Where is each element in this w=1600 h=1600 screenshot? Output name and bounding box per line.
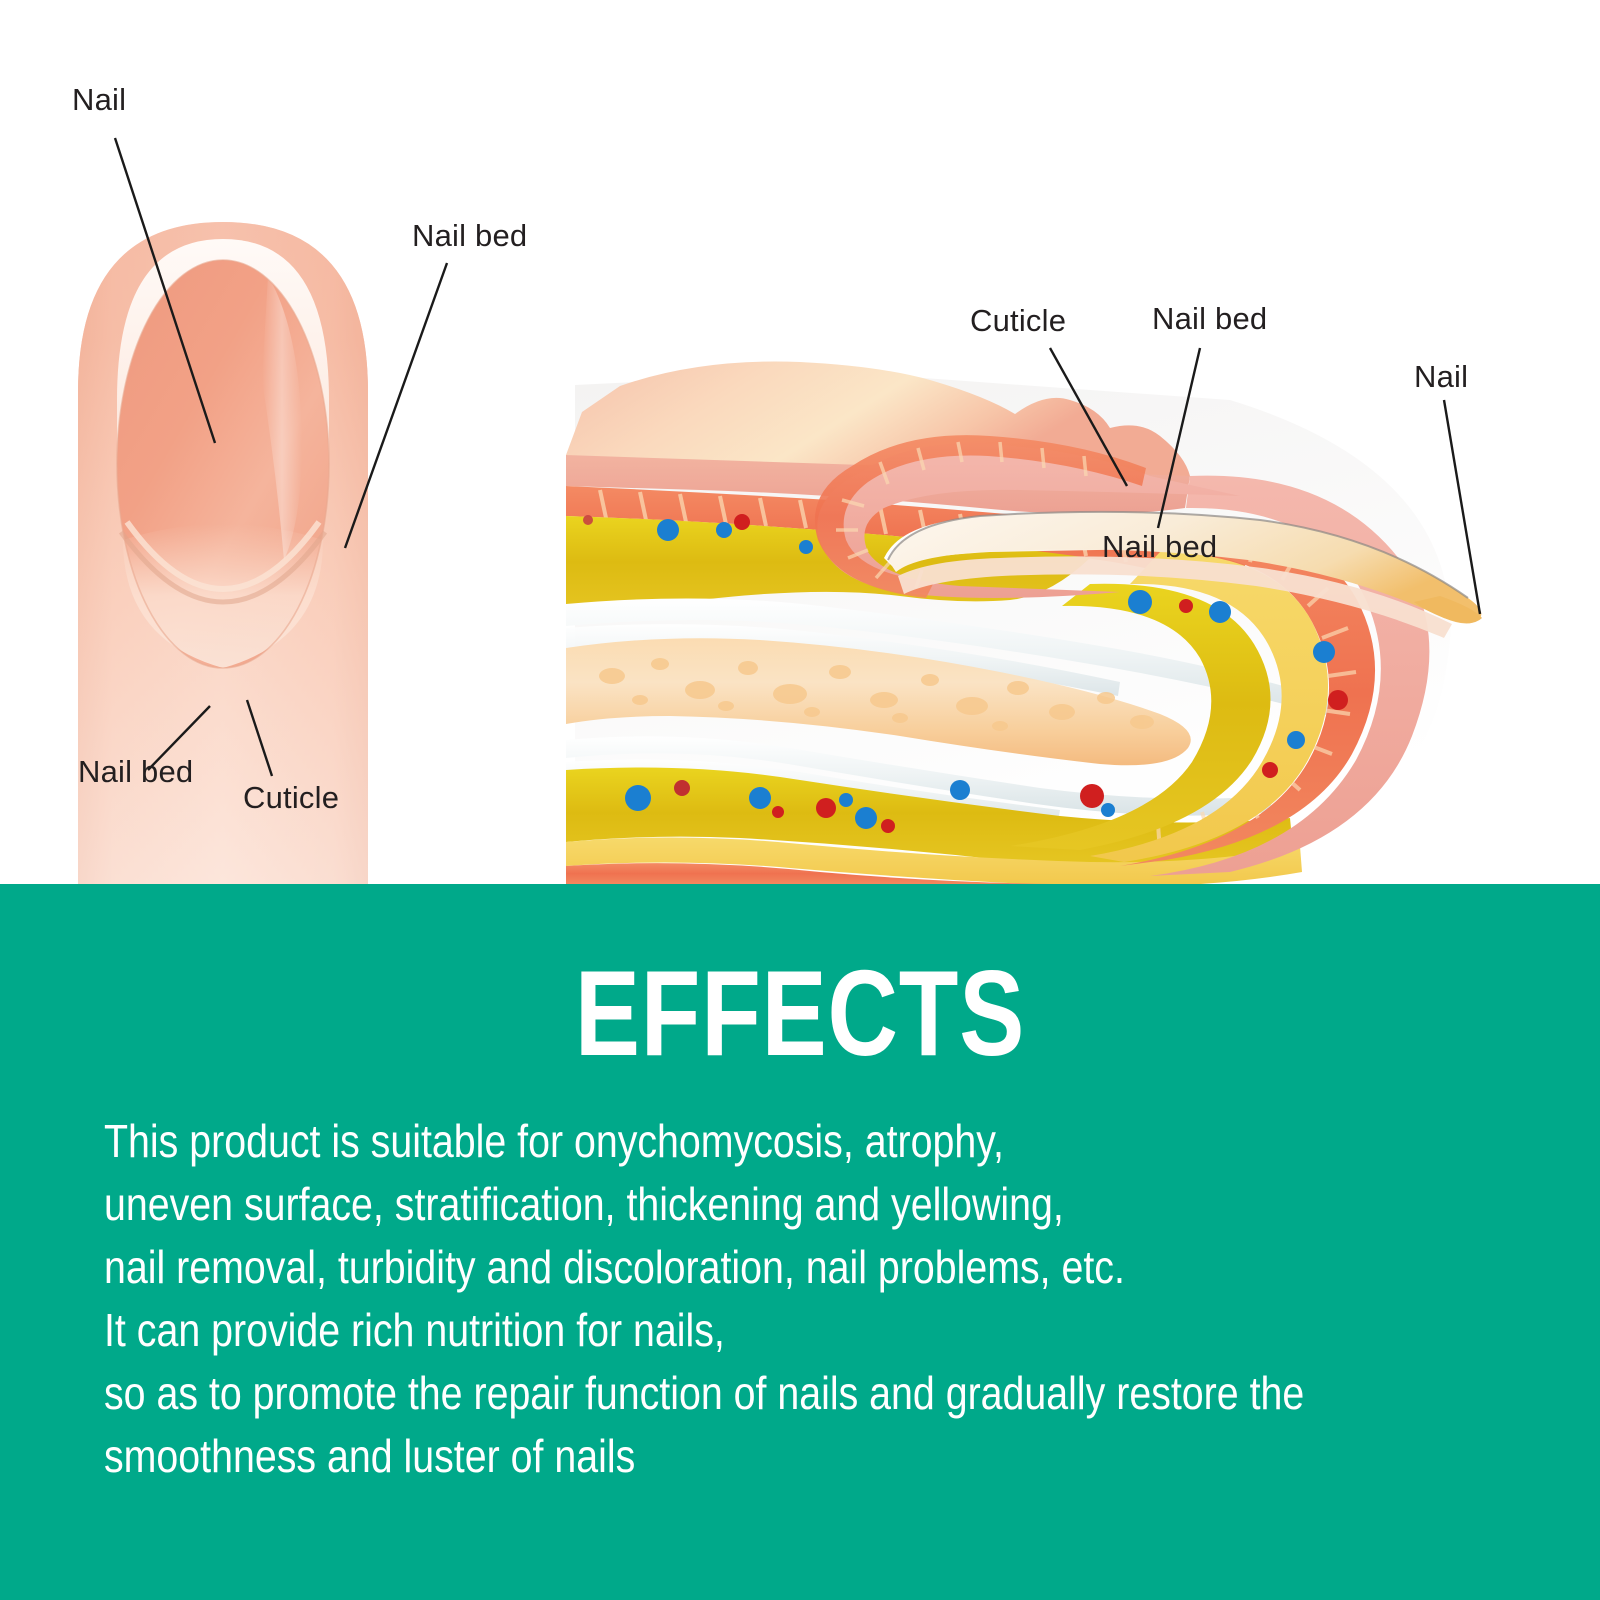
label-nail-bed-right-inner: Nail bed	[1102, 531, 1217, 562]
tip-capillary-outer	[1120, 520, 1375, 866]
fat-layer-bottom-light	[566, 837, 1302, 884]
vessels-lower-fat	[625, 780, 1274, 833]
leader-nailbed-right	[1158, 348, 1200, 528]
label-cuticle-left: Cuticle	[243, 782, 339, 813]
proximal-fold-cap	[815, 435, 1146, 598]
distal-phalanx-bone	[566, 638, 1191, 765]
cross-section-shadow	[575, 372, 1450, 872]
tip-fat-inner	[1010, 584, 1271, 850]
leader-nail-right	[1444, 400, 1480, 614]
tendon-upper-2	[566, 624, 1120, 696]
capillary-hatch-tip	[1158, 524, 1356, 852]
nail-free-edge	[117, 239, 329, 495]
nail-lunula	[123, 524, 323, 668]
tip-fat-outer	[1090, 552, 1328, 862]
label-nail-bed-left-top: Nail bed	[412, 220, 527, 251]
leader-cuticle-right	[1050, 348, 1127, 486]
dermal-capillary-band-bottom	[566, 863, 1132, 884]
nail-plate-outline	[117, 260, 329, 668]
nail-plate	[117, 260, 329, 668]
anatomy-svg	[0, 0, 1600, 884]
label-nail-left: Nail	[72, 84, 126, 115]
effects-body-text: This product is suitable for onychomycos…	[104, 1110, 1524, 1488]
effects-line-2: uneven surface, stratification, thickeni…	[104, 1173, 1318, 1236]
leader-cuticle-left	[247, 700, 272, 776]
effects-title: EFFECTS	[160, 952, 1440, 1074]
proximal-nail-fold	[817, 444, 1240, 598]
effects-line-1: This product is suitable for onychomycos…	[104, 1110, 1318, 1173]
fold-capillary-hatch	[836, 442, 1086, 588]
epidermis-top-surface	[566, 362, 1190, 501]
label-nail-bed-left-bottom: Nail bed	[78, 756, 193, 787]
nail-highlight	[262, 276, 302, 560]
vessels-tip	[1128, 590, 1348, 778]
bone-trabeculae	[599, 658, 1154, 731]
leader-nail-left	[115, 138, 215, 443]
epidermis-top-band	[566, 455, 1190, 514]
label-nail-bed-right-top: Nail bed	[1152, 303, 1267, 334]
anatomy-illustration-area: Nail Nail bed Nail bed Cuticle Cuticle N…	[0, 0, 1600, 884]
cuticle-arc-inner	[127, 522, 319, 589]
vessels-upper-fat	[583, 514, 813, 554]
tendon-lower	[566, 736, 1272, 815]
label-cuticle-right: Cuticle	[970, 305, 1066, 336]
fat-layer-upper	[566, 516, 1090, 618]
tendon-upper	[566, 598, 1330, 716]
effects-line-5: so as to promote the repair function of …	[104, 1362, 1318, 1425]
right-cross-section-diagram	[566, 348, 1482, 884]
effects-line-4: It can provide rich nutrition for nails,	[104, 1299, 1318, 1362]
fat-layer-lower	[566, 768, 1294, 869]
nail-tip-point	[1414, 596, 1482, 623]
tendon-lower-2	[566, 760, 1060, 822]
effects-line-6: smoothness and luster of nails	[104, 1425, 1318, 1488]
effects-line-3: nail removal, turbidity and discoloratio…	[104, 1236, 1318, 1299]
cuticle-arc	[121, 532, 325, 602]
effects-section: EFFECTS This product is suitable for ony…	[0, 884, 1600, 1600]
nail-bed-layer	[898, 556, 1452, 638]
leader-nailbed-left	[345, 263, 447, 548]
page-root: Nail Nail bed Nail bed Cuticle Cuticle N…	[0, 0, 1600, 1600]
label-nail-right: Nail	[1414, 361, 1468, 392]
